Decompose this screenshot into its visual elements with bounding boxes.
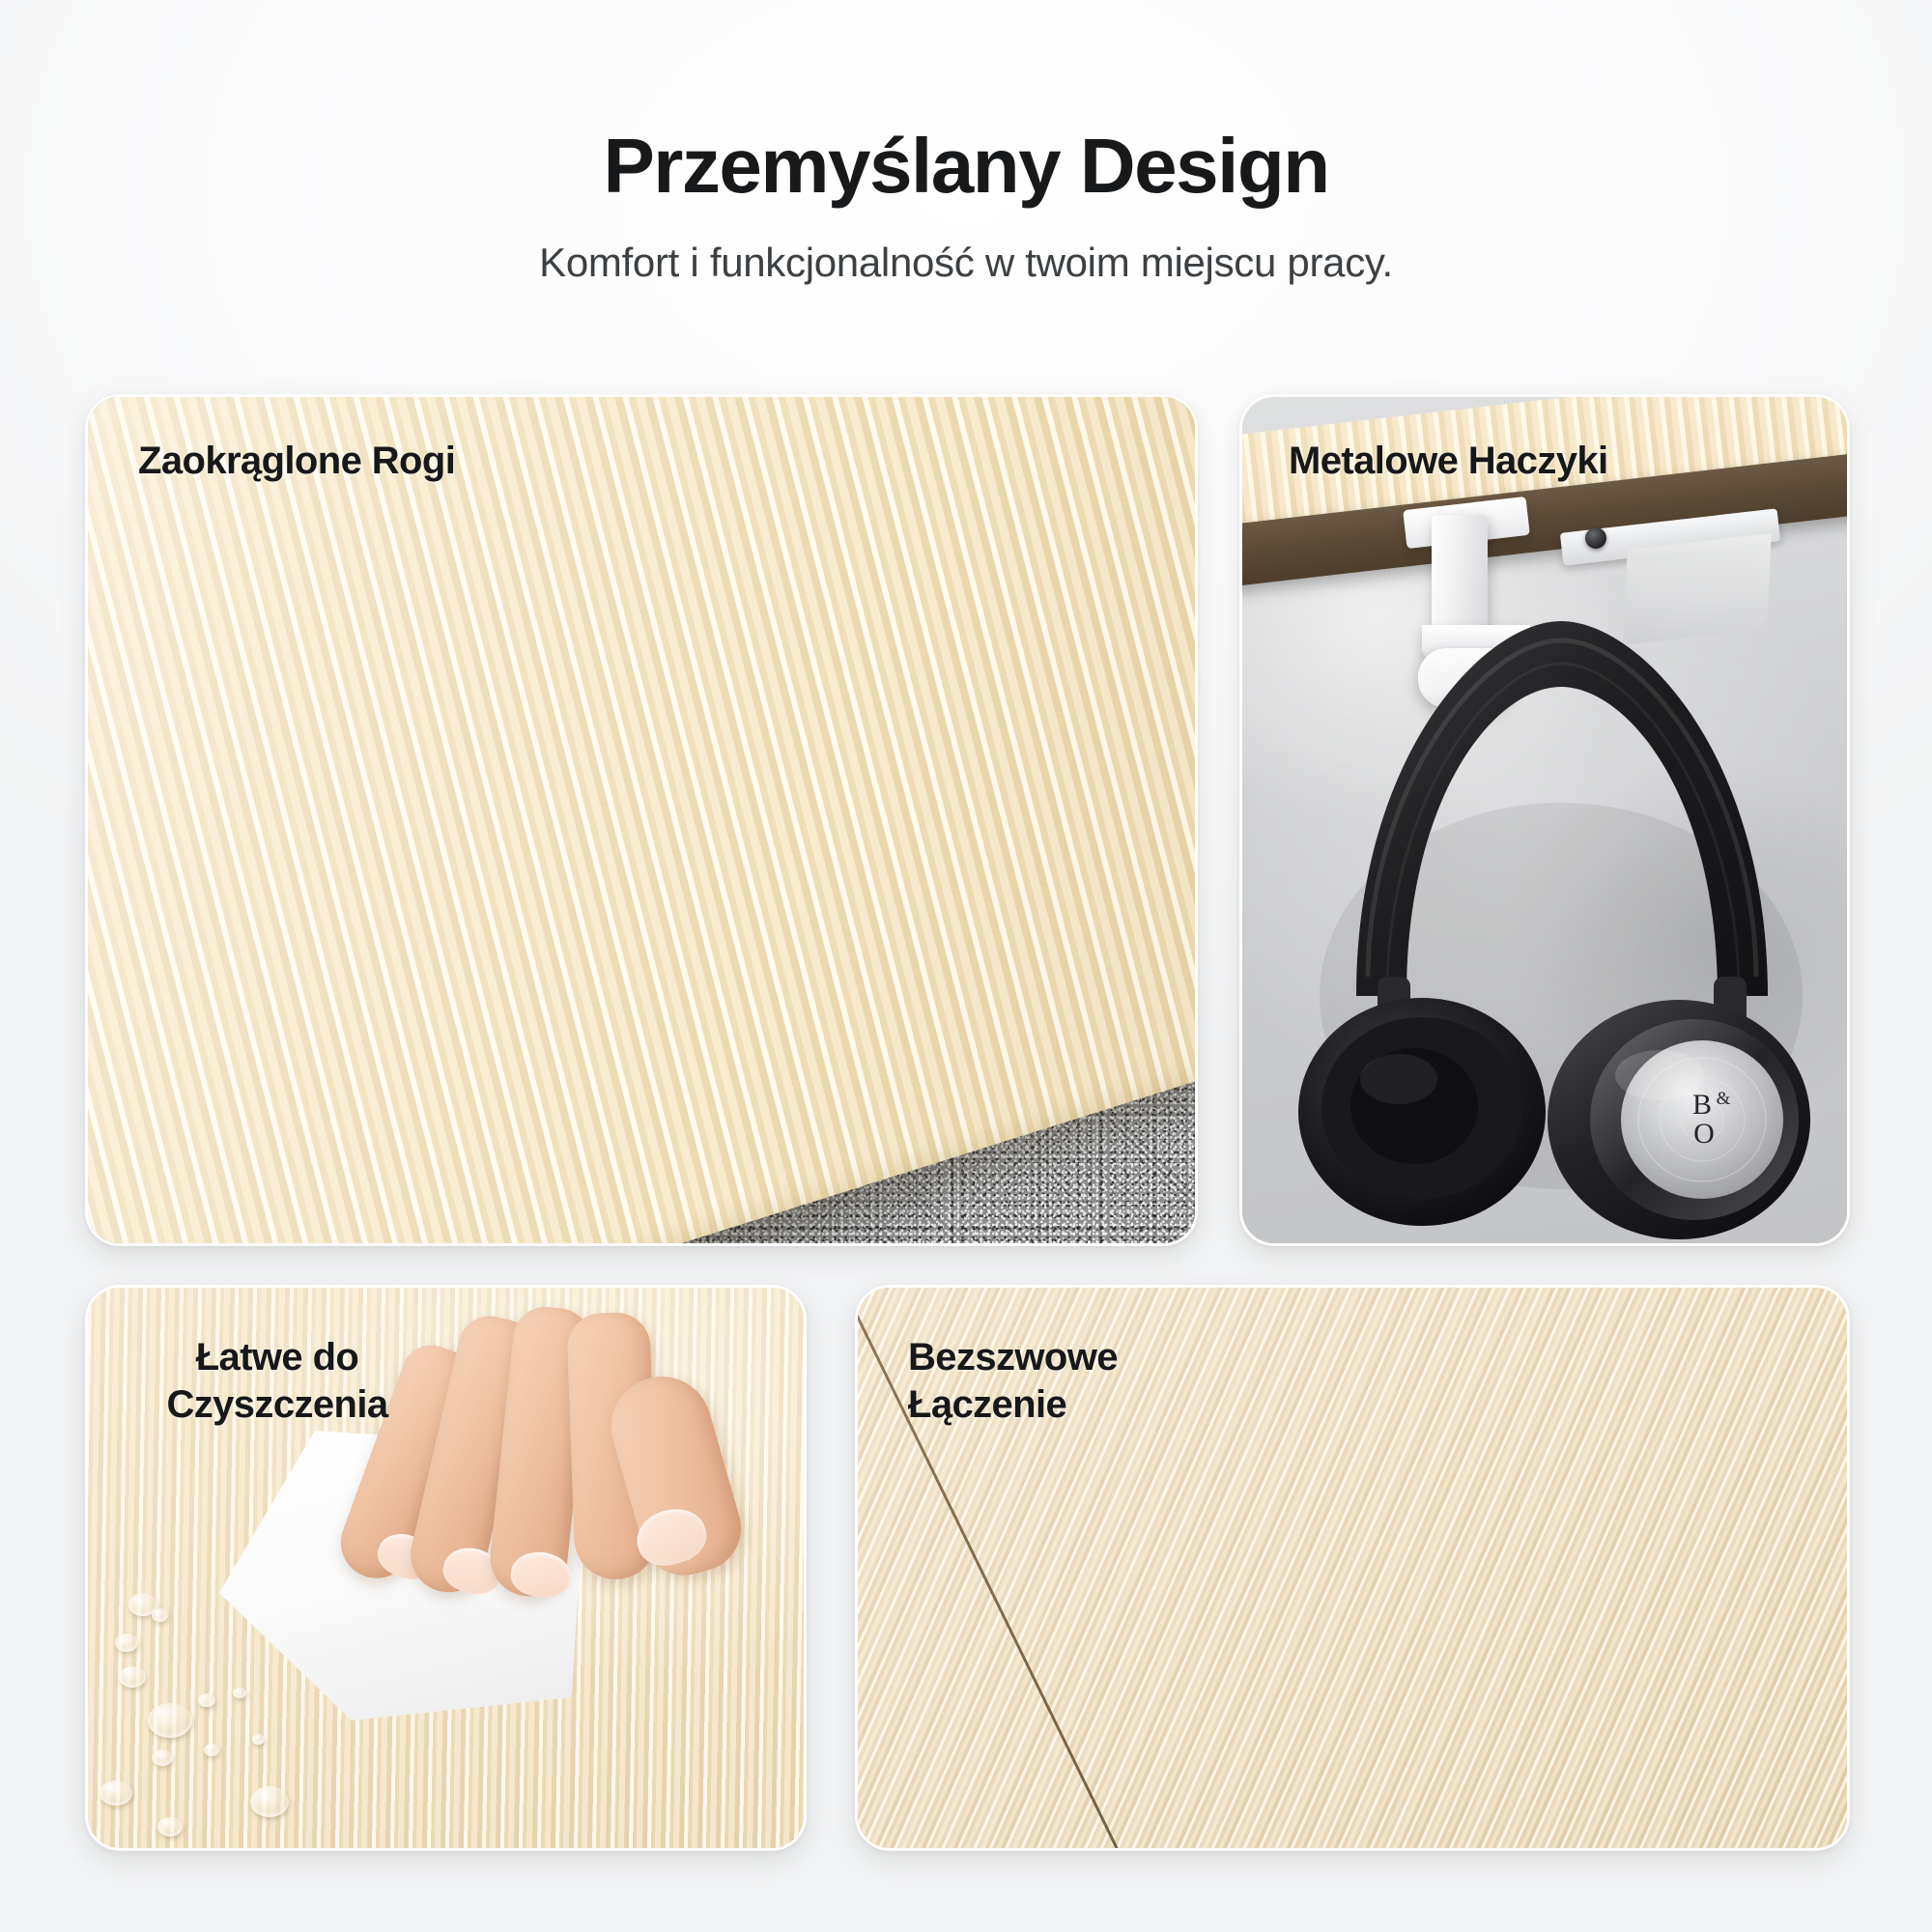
water-droplet	[233, 1688, 246, 1698]
bo-logo-icon: B	[1692, 1089, 1712, 1121]
water-droplet	[148, 1703, 192, 1738]
water-droplet	[204, 1744, 219, 1756]
card-label-seamless-joint: Bezszwowe Łączenie	[908, 1334, 1118, 1429]
water-droplet	[119, 1666, 146, 1688]
water-droplet	[250, 1786, 289, 1817]
card-label-rounded-corners: Zaokrąglone Rogi	[138, 438, 455, 485]
water-droplet	[152, 1608, 168, 1622]
desk-sheen-highlight	[85, 394, 1198, 1246]
water-droplet	[152, 1749, 173, 1766]
feature-card-rounded-corners[interactable]: Zaokrąglone Rogi	[85, 394, 1198, 1246]
feature-card-grid: Zaokrąglone Rogi	[85, 394, 1850, 1851]
page-header: Przemyślany Design Komfort i funkcjonaln…	[0, 0, 1932, 286]
feature-card-seamless-joint[interactable]: Bezszwowe Łączenie	[855, 1285, 1850, 1851]
water-droplet	[99, 1780, 132, 1805]
headphone-hook-scene: B & O	[1242, 397, 1847, 1243]
water-droplet	[115, 1634, 138, 1652]
water-droplet	[252, 1734, 265, 1745]
water-droplet	[198, 1693, 215, 1707]
svg-text:&: &	[1717, 1089, 1731, 1109]
page-title: Przemyślany Design	[0, 128, 1932, 205]
feature-card-metal-hooks[interactable]: B & O Metalowe Haczyki	[1239, 394, 1850, 1246]
headphones-illustration: B & O	[1242, 397, 1850, 1246]
desk-corner-scene	[88, 397, 1195, 1243]
feature-card-easy-to-clean[interactable]: Łatwe do Czyszczenia	[85, 1285, 807, 1851]
card-label-metal-hooks: Metalowe Haczyki	[1289, 438, 1608, 485]
svg-text:O: O	[1693, 1118, 1715, 1150]
water-droplet	[157, 1817, 183, 1836]
card-label-easy-to-clean: Łatwe do Czyszczenia	[132, 1334, 422, 1429]
page-subtitle: Komfort i funkcjonalność w twoim miejscu…	[0, 240, 1932, 286]
